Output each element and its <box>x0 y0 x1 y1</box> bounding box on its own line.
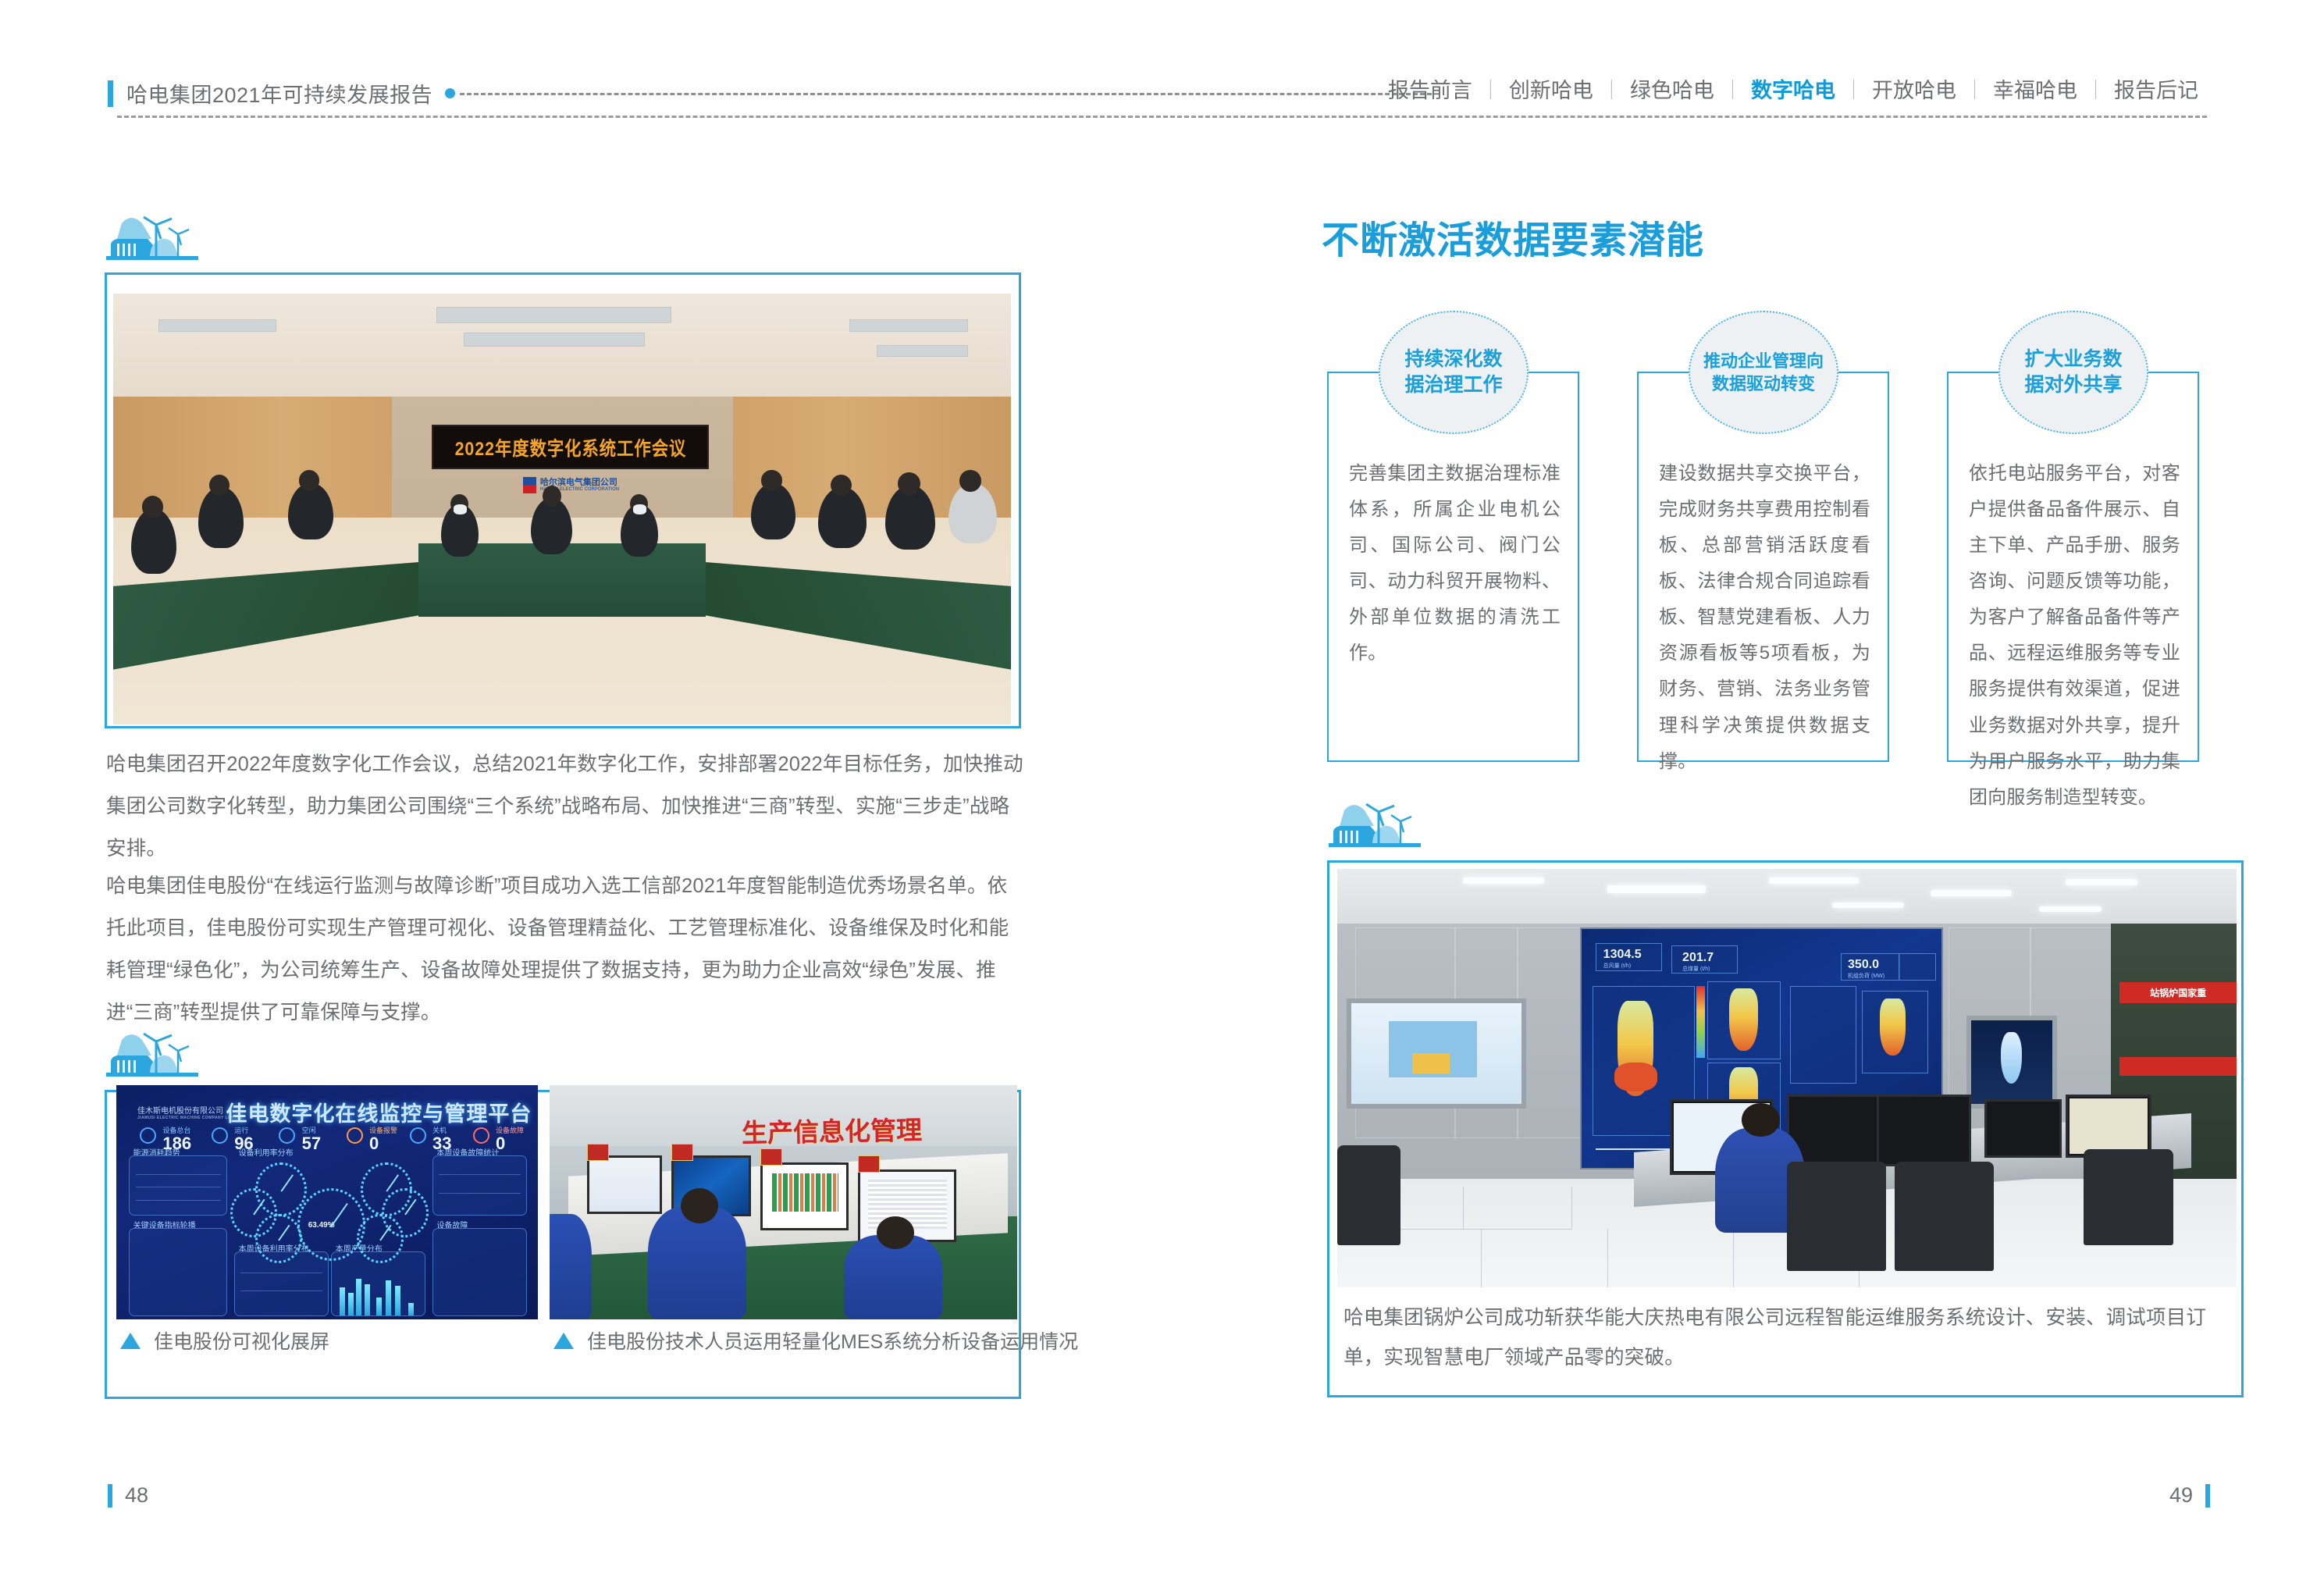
video-wall-readout-0: 1304.5 总风量 (t/h) <box>1603 948 1642 970</box>
control-room-caption: 哈电集团锅炉公司成功斩获华能大庆热电有限公司远程智能运维服务系统设计、安装、调试… <box>1344 1298 2229 1378</box>
triangle-bullet-icon <box>553 1333 574 1349</box>
nav-item-4[interactable]: 开放哈电 <box>1863 73 1965 104</box>
dashboard-kpi-3: 设备报警 0 <box>369 1125 397 1152</box>
dashboard-title: 佳电数字化在线监控与管理平台 <box>226 1097 532 1127</box>
footer-accent-bar <box>2205 1484 2210 1508</box>
right-wall-screen <box>1966 1016 2057 1109</box>
control-room-frame: 1304.5 总风量 (t/h) 201.7 总煤量 (t/h) 350.0 机… <box>1327 860 2244 1397</box>
meeting-caption: 哈电集团召开2022年度数字化工作会议，总结2021年数字化工作，安排部署202… <box>106 743 1024 870</box>
info-box-0-body: 完善集团主数据治理标准体系，所属企业电机公司、国际公司、阀门公司、动力科贸开展物… <box>1349 456 1561 671</box>
header-left: 哈电集团2021年可持续发展报告 <box>108 78 1432 109</box>
bottom-photos-frame: 佳木斯电机股份有限公司 JIAMUSI ELECTRIC MACHINE COM… <box>105 1090 1021 1399</box>
factory-banner-text: 生产信息化管理 <box>741 1109 922 1150</box>
nav-item-6[interactable]: 报告后记 <box>2105 73 2207 104</box>
factory-caption-text: 佳电股份技术人员运用轻量化MES系统分析设备运用情况 <box>587 1326 1078 1355</box>
info-box-0-title-line1: 持续深化数 <box>1404 347 1502 372</box>
info-box-1-body: 建设数据共享交换平台，完成财务共享费用控制看板、总部营销活跃度看板、法律合规合同… <box>1659 456 1870 780</box>
factory-caption: 佳电股份技术人员运用轻量化MES系统分析设备运用情况 <box>553 1326 1078 1355</box>
info-box-2-circle: 扩大业务数 据对外共享 <box>1998 311 2148 434</box>
meeting-banner: 2022年度数字化系统工作会议 <box>432 425 709 468</box>
meeting-banner-text: 2022年度数字化系统工作会议 <box>454 433 686 461</box>
nav-separator: ｜ <box>1723 75 1742 103</box>
info-box-1-circle: 推动企业管理向 数据驱动转变 <box>1689 311 1838 434</box>
harbin-electric-logo: 哈尔滨电气集团公司 HARBIN ELECTRIC CORPORATION <box>508 475 634 497</box>
hydro-wind-deco-icon-3 <box>1327 796 1427 857</box>
meeting-photo: 2022年度数字化系统工作会议 哈尔滨电气集团公司 HARBIN ELECTRI… <box>113 294 1011 724</box>
info-box-2-body: 依托电站服务平台，对客户提供备品备件展示、自主下单、产品手册、服务咨询、问题反馈… <box>1969 456 2180 816</box>
nav-item-1[interactable]: 创新哈电 <box>1500 73 1602 104</box>
dashboard-caption: 佳电股份可视化展屏 <box>120 1326 329 1355</box>
dashboard-caption-text: 佳电股份可视化展屏 <box>154 1326 329 1355</box>
video-wall-readout-2: 350.0 机组负荷 (MW) <box>1848 958 1884 980</box>
info-box-2-title-line2: 据对外共享 <box>2024 372 2122 398</box>
info-box-1-title-line2: 数据驱动转变 <box>1712 372 1815 395</box>
info-box-0-circle: 持续深化数 据治理工作 <box>1379 311 1529 434</box>
left-wall-screen <box>1347 999 1527 1109</box>
jiadian-paragraph: 哈电集团佳电股份“在线运行监测与故障诊断”项目成功入选工信部2021年度智能制造… <box>106 865 1024 1034</box>
section-nav[interactable]: 报告前言 ｜ 创新哈电 ｜ 绿色哈电 ｜ 数字哈电 ｜ 开放哈电 ｜ 幸福哈电 … <box>1379 73 2207 104</box>
info-box-0-title-line2: 据治理工作 <box>1404 372 1502 398</box>
dashboard-panel-1: 设备利用率分布 <box>239 1146 294 1158</box>
triangle-bullet-icon <box>120 1333 141 1349</box>
report-title: 哈电集团2021年可持续发展报告 <box>126 78 432 109</box>
nav-separator: ｜ <box>1965 75 1984 103</box>
header-dot-icon <box>445 88 455 98</box>
nav-item-2[interactable]: 绿色哈电 <box>1621 73 1723 104</box>
info-box-2-title-line1: 扩大业务数 <box>2024 347 2122 372</box>
dashboard-kpi-5: 设备故障 0 <box>496 1125 524 1152</box>
footer-accent-bar <box>108 1484 112 1508</box>
factory-photo: 生产信息化管理 <box>550 1085 1017 1319</box>
report-spread: 哈电集团2021年可持续发展报告 报告前言 ｜ 创新哈电 ｜ 绿色哈电 ｜ 数字… <box>0 0 2324 1577</box>
hydro-wind-deco-icon-2 <box>105 1026 205 1087</box>
header-rule <box>117 116 2207 118</box>
footer-right: 49 <box>2157 1483 2210 1508</box>
control-room-photo: 1304.5 总风量 (t/h) 201.7 总煤量 (t/h) 350.0 机… <box>1337 869 2237 1287</box>
video-wall-readout-1: 201.7 总煤量 (t/h) <box>1682 951 1714 973</box>
dashboard-kpi-2: 空闲 57 <box>302 1125 321 1152</box>
page-title: 不断激活数据要素潜能 <box>1322 209 1704 264</box>
nav-separator: ｜ <box>1481 75 1500 103</box>
nav-separator: ｜ <box>2086 75 2105 103</box>
hydro-wind-deco-icon <box>105 209 205 270</box>
nav-separator: ｜ <box>1844 75 1863 103</box>
nav-item-3-active[interactable]: 数字哈电 <box>1742 73 1844 104</box>
dashboard-photo: 佳木斯电机股份有限公司 JIAMUSI ELECTRIC MACHINE COM… <box>116 1085 538 1319</box>
nav-item-5[interactable]: 幸福哈电 <box>1984 73 2086 104</box>
nav-separator: ｜ <box>1602 75 1621 103</box>
info-box-1-title-line1: 推动企业管理向 <box>1703 350 1824 372</box>
footer-left: 48 <box>108 1483 161 1508</box>
page-number-left: 48 <box>125 1483 148 1508</box>
right-red-banner: 站锅炉国家重 <box>2119 982 2237 1003</box>
nav-item-0[interactable]: 报告前言 <box>1379 73 1481 104</box>
header-dashed-line <box>460 93 1432 95</box>
meeting-photo-frame: 2022年度数字化系统工作会议 哈尔滨电气集团公司 HARBIN ELECTRI… <box>105 272 1021 728</box>
dashboard-center-gauge-value: 63.49% <box>308 1221 335 1230</box>
header-accent-bar <box>108 80 113 107</box>
page-number-right: 49 <box>2169 1483 2193 1508</box>
